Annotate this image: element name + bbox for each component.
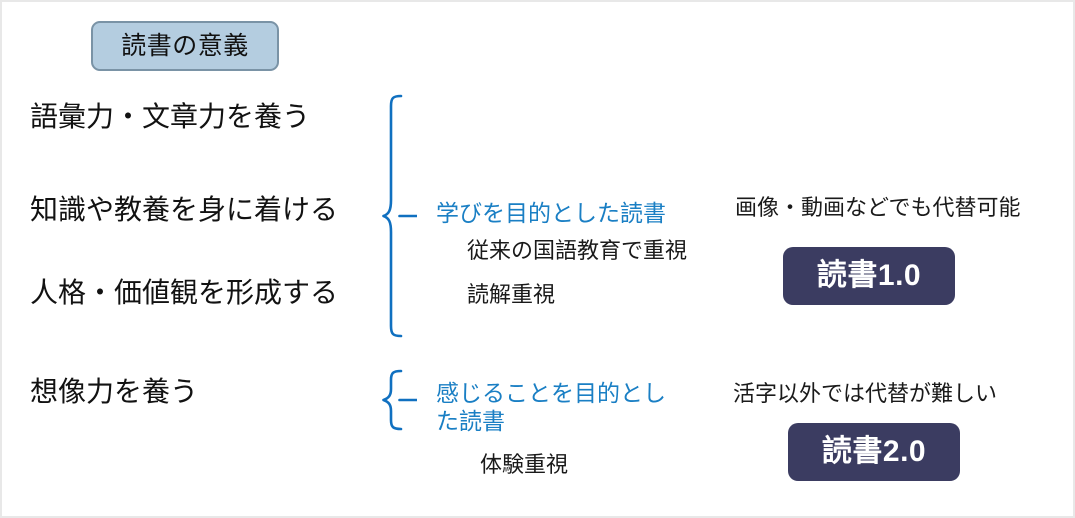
badge-reading-2-0-label: 読書2.0: [822, 437, 926, 467]
badge-reading-2-0: 読書2.0: [788, 423, 960, 481]
title-chip-label: 読書の意義: [121, 34, 249, 59]
group-heading-learning: 学びを目的とした読書: [436, 199, 666, 227]
large-curly-brace-icon: [375, 90, 417, 342]
group-subpoint-reading-comprehension: 読解重視: [467, 284, 555, 306]
group-heading-feeling: 感じることを目的とした読書: [436, 379, 686, 435]
right-note-hard-to-substitute: 活字以外では代替が難しい: [733, 383, 997, 405]
left-item-character: 人格・価値観を形成する: [30, 279, 338, 307]
group-subpoint-traditional-education: 従来の国語教育で重視: [467, 240, 687, 262]
right-note-substitutable: 画像・動画などでも代替可能: [735, 197, 1021, 219]
badge-reading-1-0: 読書1.0: [783, 247, 955, 305]
small-curly-brace-icon: [375, 366, 417, 434]
left-item-imagination: 想像力を養う: [30, 378, 198, 406]
group-subpoint-experience: 体験重視: [480, 454, 568, 476]
title-chip: 読書の意義: [91, 21, 279, 71]
left-item-vocabulary: 語彙力・文章力を養う: [30, 103, 310, 131]
left-item-knowledge: 知識や教養を身に着ける: [30, 196, 338, 224]
badge-reading-1-0-label: 読書1.0: [817, 261, 921, 291]
diagram-canvas: 読書の意義 語彙力・文章力を養う 知識や教養を身に着ける 人格・価値観を形成する…: [0, 0, 1075, 518]
